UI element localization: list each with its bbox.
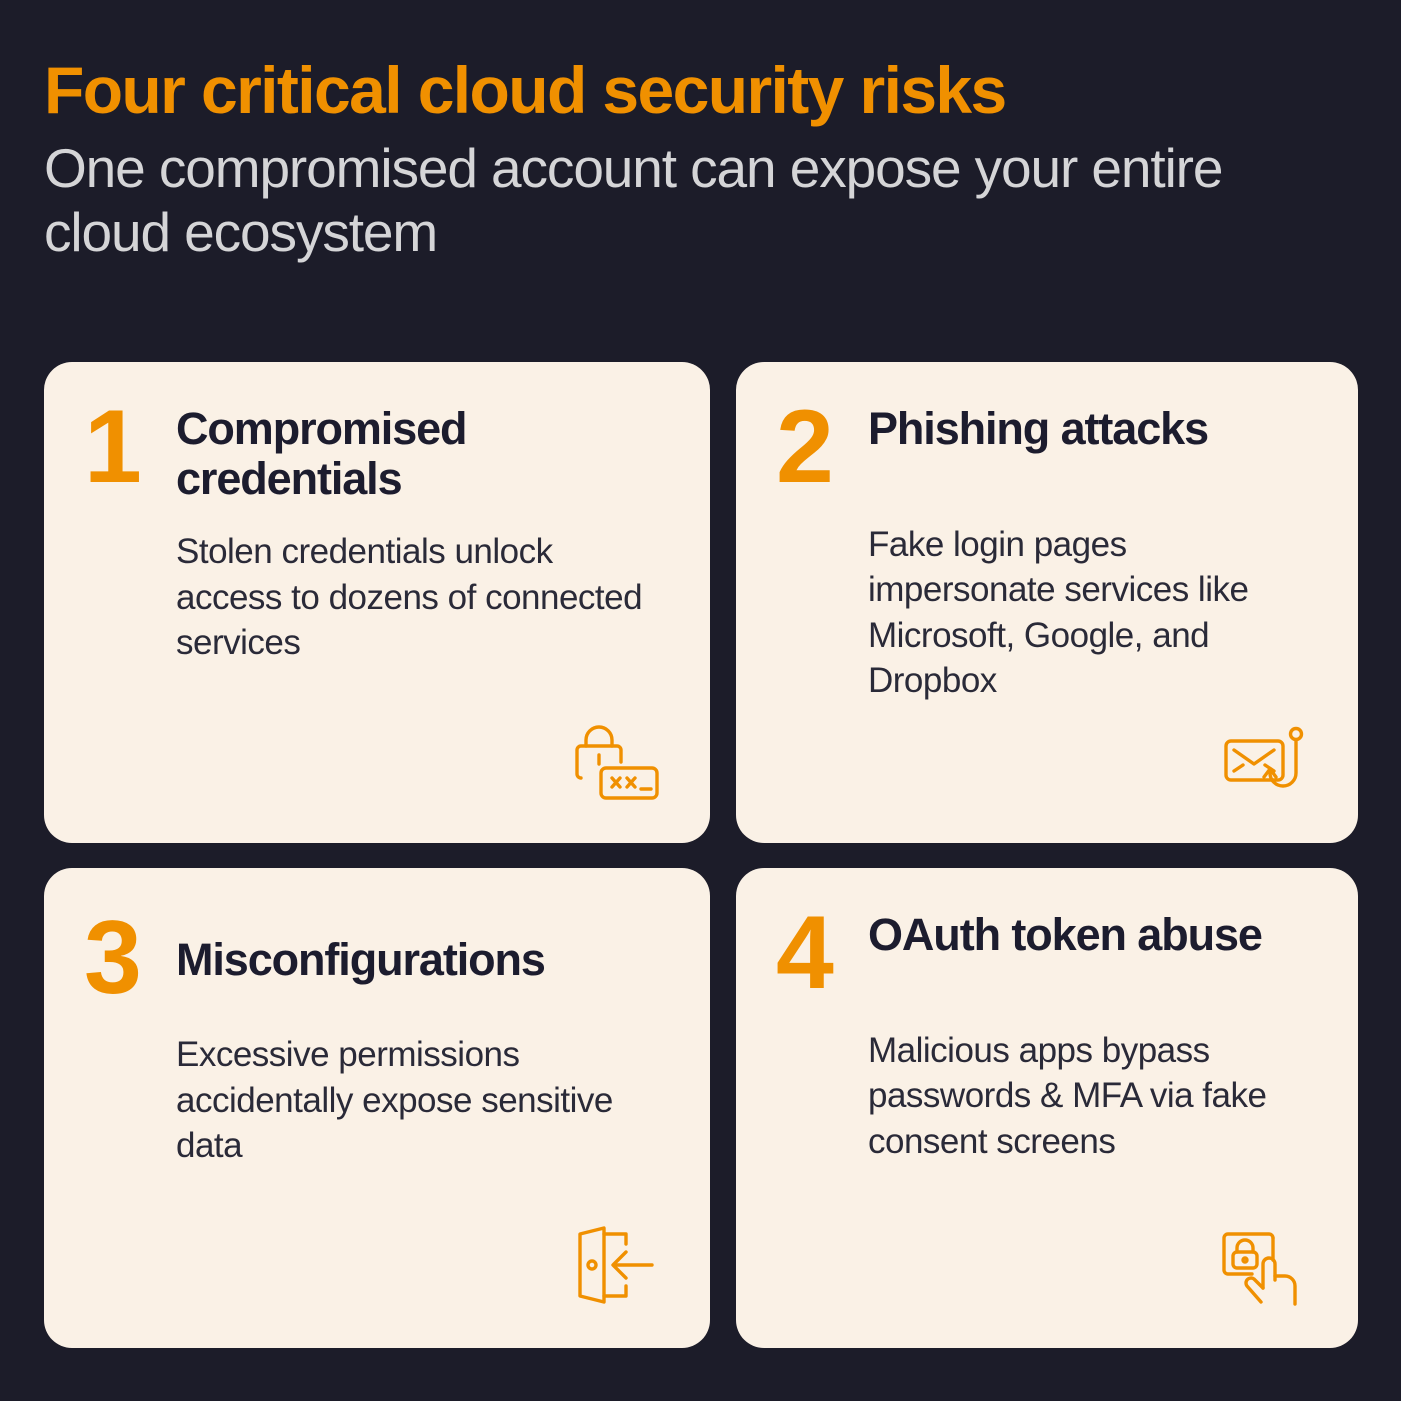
page-subtitle: One compromised account can expose your … <box>44 137 1314 264</box>
card-content: 3 Misconfigurations Excessive permission… <box>44 868 710 1169</box>
lock-password-icon <box>568 719 666 807</box>
card-header: 2 Phishing attacks <box>776 400 1318 496</box>
card-header: 1 Compromised credentials <box>84 400 670 503</box>
card-content: 2 Phishing attacks Fake login pages impe… <box>736 362 1358 704</box>
card-content: 4 OAuth token abuse Malicious apps bypas… <box>736 868 1358 1164</box>
risk-card-grid: 1 Compromised credentials Stolen credent… <box>44 362 1358 1348</box>
page-title: Four critical cloud security risks <box>44 56 1357 125</box>
card-title: Compromised credentials <box>176 400 670 503</box>
card-body: Excessive permissions accidentally expos… <box>176 1032 626 1169</box>
card-content: 1 Compromised credentials Stolen credent… <box>44 362 710 666</box>
open-door-arrow-icon <box>570 1222 660 1308</box>
infographic-page: Four critical cloud security risks One c… <box>0 0 1401 1401</box>
card-title: Misconfigurations <box>176 931 545 985</box>
card-title: OAuth token abuse <box>868 906 1262 960</box>
card-number: 1 <box>84 400 176 496</box>
header: Four critical cloud security risks One c… <box>0 0 1401 264</box>
card-number: 2 <box>776 400 868 496</box>
risk-card-2[interactable]: 2 Phishing attacks Fake login pages impe… <box>736 362 1358 843</box>
card-number: 3 <box>84 906 176 1010</box>
risk-card-3[interactable]: 3 Misconfigurations Excessive permission… <box>44 868 710 1348</box>
card-body: Stolen credentials unlock access to doze… <box>176 529 646 666</box>
card-header: 3 Misconfigurations <box>84 906 670 1010</box>
lock-screen-tap-icon <box>1216 1226 1306 1312</box>
card-body: Malicious apps bypass passwords & MFA vi… <box>868 1028 1298 1165</box>
card-header: 4 OAuth token abuse <box>776 906 1318 1002</box>
email-phishing-hook-icon <box>1216 719 1314 807</box>
risk-card-4[interactable]: 4 OAuth token abuse Malicious apps bypas… <box>736 868 1358 1348</box>
card-number: 4 <box>776 906 868 1002</box>
card-title: Phishing attacks <box>868 400 1208 454</box>
risk-card-1[interactable]: 1 Compromised credentials Stolen credent… <box>44 362 710 843</box>
card-body: Fake login pages impersonate services li… <box>868 522 1298 704</box>
